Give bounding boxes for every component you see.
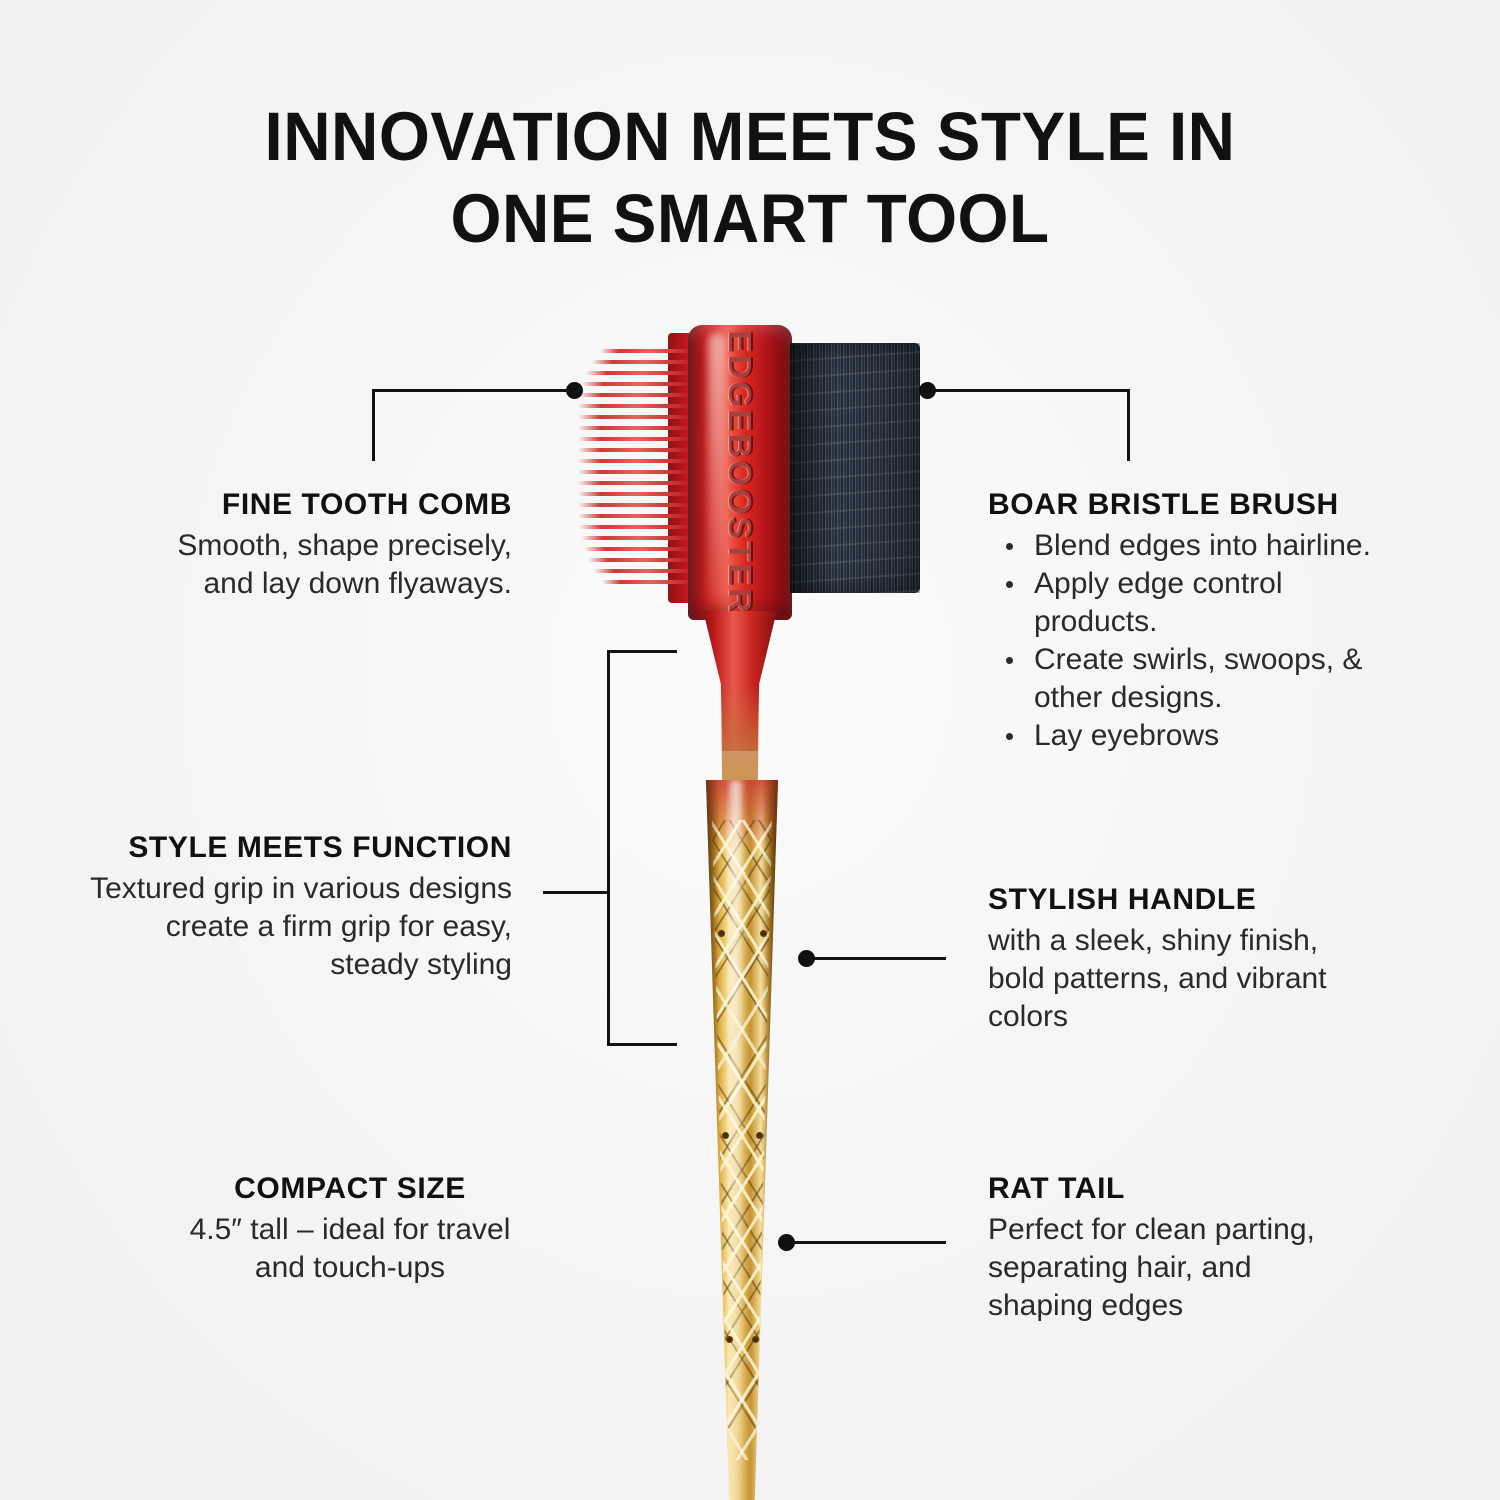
feature-style-meets-function: STYLE MEETS FUNCTION Textured grip in va… bbox=[80, 830, 512, 984]
feature-rat-tail: RAT TAIL Perfect for clean parting, sepa… bbox=[988, 1171, 1360, 1325]
feature-body: with a sleek, shiny finish, bold pattern… bbox=[988, 922, 1368, 1036]
feature-bullet-list: Blend edges into hairline. Apply edge co… bbox=[988, 527, 1408, 755]
infographic-canvas: INNOVATION MEETS STYLE IN ONE SMART TOOL bbox=[0, 0, 1500, 1500]
list-item: Apply edge control products. bbox=[988, 565, 1408, 641]
bullet-icon bbox=[1006, 733, 1013, 740]
feature-body: 4.5″ tall – ideal for travel and touch-u… bbox=[185, 1211, 515, 1287]
feature-stylish-handle: STYLISH HANDLE with a sleek, shiny finis… bbox=[988, 882, 1368, 1036]
list-item: Lay eyebrows bbox=[988, 717, 1408, 755]
product-head: EDGEBOOSTER bbox=[560, 325, 940, 610]
feature-compact-size: COMPACT SIZE 4.5″ tall – ideal for trave… bbox=[185, 1171, 515, 1287]
bullet-icon bbox=[1006, 543, 1013, 550]
feature-fine-tooth-comb: FINE TOOTH COMB Smooth, shape precisely,… bbox=[140, 487, 512, 603]
product-image: EDGEBOOSTER bbox=[560, 325, 940, 1410]
leader-line-boar-bristle-v bbox=[1127, 389, 1130, 461]
feature-title: RAT TAIL bbox=[988, 1171, 1360, 1207]
leader-line-stylish-handle bbox=[806, 957, 946, 960]
feature-body: Perfect for clean parting, separating ha… bbox=[988, 1211, 1360, 1325]
list-item: Blend edges into hairline. bbox=[988, 527, 1408, 565]
feature-title: STYLISH HANDLE bbox=[988, 882, 1368, 918]
leader-line-boar-bristle-h bbox=[928, 389, 1130, 392]
bullet-text: Lay eyebrows bbox=[1034, 719, 1219, 752]
feature-body: Textured grip in various designs create … bbox=[80, 870, 512, 984]
feature-title: STYLE MEETS FUNCTION bbox=[80, 830, 512, 866]
feature-title: FINE TOOTH COMB bbox=[140, 487, 512, 523]
feature-boar-bristle-brush: BOAR BRISTLE BRUSH Blend edges into hair… bbox=[988, 487, 1408, 755]
feature-body: Smooth, shape precisely, and lay down fl… bbox=[140, 527, 512, 603]
stylish-handle-shaft bbox=[706, 780, 778, 1500]
leader-bracket-style-function-bottom bbox=[607, 1043, 677, 1046]
bullet-text: Blend edges into hairline. bbox=[1034, 529, 1371, 562]
bristle-shading bbox=[790, 343, 920, 593]
brand-logo-text: EDGEBOOSTER bbox=[688, 325, 792, 620]
leader-bracket-style-function-stem bbox=[543, 891, 610, 894]
feature-title: BOAR BRISTLE BRUSH bbox=[988, 487, 1408, 523]
leader-bracket-style-function-top bbox=[607, 650, 677, 653]
feature-title: COMPACT SIZE bbox=[185, 1171, 515, 1207]
brand-bar: EDGEBOOSTER bbox=[688, 325, 792, 620]
bullet-icon bbox=[1006, 657, 1013, 664]
bullet-icon bbox=[1006, 581, 1013, 588]
leader-line-fine-tooth-comb-v bbox=[372, 389, 375, 461]
list-item: Create swirls, swoops, & other designs. bbox=[988, 641, 1408, 717]
bullet-text: Apply edge control products. bbox=[1034, 567, 1283, 638]
brand-label: EDGEBOOSTER bbox=[721, 330, 759, 614]
bullet-text: Create swirls, swoops, & other designs. bbox=[1034, 643, 1362, 714]
headline-line-2: ONE SMART TOOL bbox=[38, 178, 1463, 260]
leader-bracket-style-function-v bbox=[607, 650, 610, 1046]
leader-line-rat-tail bbox=[786, 1241, 946, 1244]
page-title: INNOVATION MEETS STYLE IN ONE SMART TOOL bbox=[38, 96, 1463, 260]
handle-edge-shadow bbox=[706, 780, 778, 1500]
headline-line-1: INNOVATION MEETS STYLE IN bbox=[265, 98, 1236, 175]
leader-line-fine-tooth-comb-h bbox=[372, 389, 572, 392]
boar-bristles bbox=[790, 343, 920, 593]
